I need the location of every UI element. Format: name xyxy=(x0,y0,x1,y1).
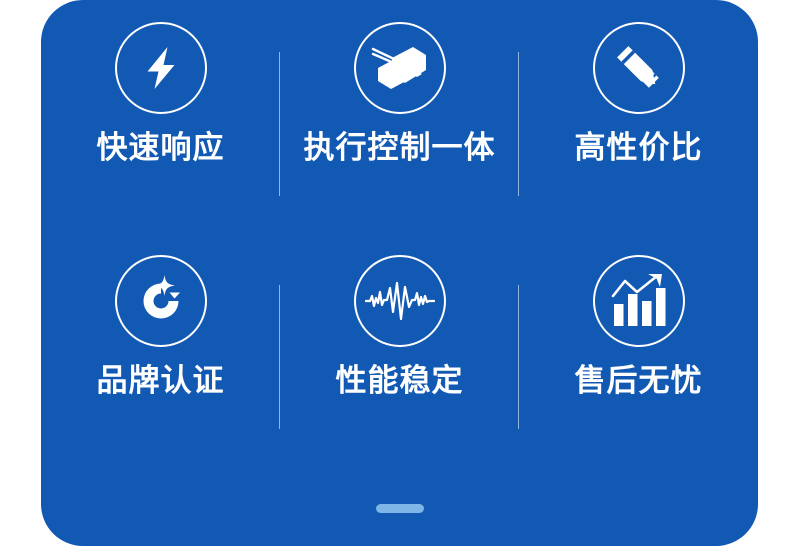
feature-label: 高性价比 xyxy=(575,132,703,163)
feature-grid: 快速响应 xyxy=(41,0,758,466)
feature-item-cost-performance[interactable]: 高性价比 xyxy=(519,0,758,233)
feature-item-integrated-control[interactable]: 执行控制一体 xyxy=(280,0,519,233)
feature-card: 快速响应 xyxy=(41,0,758,546)
feature-item-stable-performance[interactable]: 性能稳定 xyxy=(280,233,519,466)
icon-circle-cost-performance xyxy=(593,22,685,114)
screen-root: 快速响应 xyxy=(0,0,800,557)
feature-item-after-sales[interactable]: 售后无忧 xyxy=(519,233,758,466)
pencil-ruler-icon xyxy=(610,39,668,97)
waveform-pulse-icon xyxy=(365,279,435,323)
bar-chart-growth-icon xyxy=(610,274,668,328)
icon-circle-integrated-control xyxy=(354,22,446,114)
feature-label: 性能稳定 xyxy=(336,365,464,396)
feature-label: 执行控制一体 xyxy=(304,132,496,163)
feature-label: 快速响应 xyxy=(97,132,225,163)
feature-label: 品牌认证 xyxy=(97,365,225,396)
icon-circle-after-sales xyxy=(593,255,685,347)
icon-circle-fast-response xyxy=(115,22,207,114)
feature-item-brand-certification[interactable]: 品牌认证 xyxy=(41,233,280,466)
home-indicator[interactable] xyxy=(376,504,424,513)
sparkle-badge-icon xyxy=(133,273,189,329)
feature-item-fast-response[interactable]: 快速响应 xyxy=(41,0,280,233)
icon-circle-stable-performance xyxy=(354,255,446,347)
actuator-device-icon xyxy=(369,39,431,97)
feature-label: 售后无忧 xyxy=(575,365,703,396)
icon-circle-brand-certification xyxy=(115,255,207,347)
lightning-bolt-icon xyxy=(133,40,189,96)
